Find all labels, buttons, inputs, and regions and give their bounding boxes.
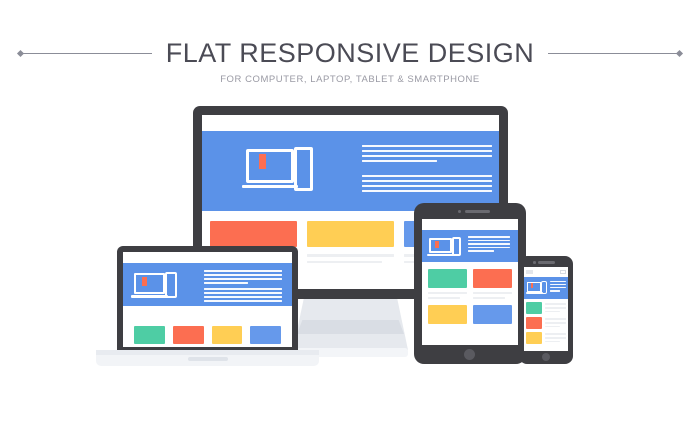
laptop-base-lip [96,350,319,355]
card-item [250,326,281,347]
tablet-bezel [414,203,526,364]
laptop-hero-text-block-1 [204,270,282,284]
card-thumb [307,221,394,247]
speaker-icon [538,261,555,264]
phone-bezel [519,256,573,364]
card-item [473,305,512,324]
laptop-base [96,350,319,366]
list-item[interactable] [526,317,566,329]
logo-placeholder-icon [526,270,533,274]
device-laptop [96,246,319,366]
device-smartphone [519,256,573,364]
diamond-cap-icon [676,50,683,57]
card-item [473,269,512,299]
header: FLAT RESPONSIVE DESIGN FOR COMPUTER, LAP… [0,40,700,85]
card-thumb [428,305,467,324]
list-item[interactable] [526,302,566,314]
tablet-topbar [422,219,518,230]
card-item [428,269,467,299]
phone-list [524,299,568,347]
diamond-cap-icon [17,50,24,57]
monitor-hero-banner [202,131,499,211]
card-thumb [250,326,281,344]
home-button[interactable] [542,353,550,361]
card-thumb [526,302,542,314]
card-item [428,305,467,324]
card-item [134,326,165,347]
card-thumb [210,221,297,247]
phone-topbar [524,267,568,277]
tablet-hero-text-block [468,236,510,252]
card-thumb [526,317,542,329]
list-item[interactable] [526,332,566,344]
card-thumb [134,326,165,344]
title-row: FLAT RESPONSIVE DESIGN [0,40,700,67]
card-item [212,326,243,347]
laptop-screen [123,252,292,347]
right-rule-divider [548,53,680,54]
laptop-hero-text-block-2 [204,288,282,302]
phone-hero-text-block [550,281,566,292]
menu-icon[interactable] [560,270,566,274]
card-thumb [473,269,512,288]
laptop-trackpad[interactable] [188,357,228,361]
card-thumb [526,332,542,344]
device-tablet [414,203,526,364]
laptop-and-phone-icon [527,281,547,295]
page-title: FLAT RESPONSIVE DESIGN [166,40,535,67]
tablet-hero-banner [422,230,518,262]
page-subtitle: FOR COMPUTER, LAPTOP, TABLET & SMARTPHON… [0,74,700,85]
laptop-card-row [123,317,292,347]
card-thumb [473,305,512,324]
speaker-icon [465,210,490,213]
illustration-canvas: FLAT RESPONSIVE DESIGN FOR COMPUTER, LAP… [0,0,700,422]
tablet-screen [422,219,518,345]
laptop-and-phone-icon [134,272,178,299]
laptop-and-phone-icon [246,147,314,193]
camera-icon [533,261,536,264]
laptop-hero-banner [123,263,292,306]
laptop-bezel [117,246,298,354]
card-item [307,221,394,281]
tablet-card-grid [422,262,518,331]
laptop-topbar [123,252,292,263]
card-thumb [212,326,243,344]
phone-screen [524,267,568,351]
monitor-hero-text-block-2 [362,175,492,192]
laptop-and-phone-icon [429,237,461,257]
monitor-topbar [202,115,499,131]
monitor-hero-text-block-1 [362,145,492,162]
phone-hero-banner [524,277,568,299]
card-thumb [173,326,204,344]
left-rule-divider [20,53,152,54]
home-button[interactable] [464,349,475,360]
camera-icon [458,210,461,213]
card-item [173,326,204,347]
card-thumb [428,269,467,288]
